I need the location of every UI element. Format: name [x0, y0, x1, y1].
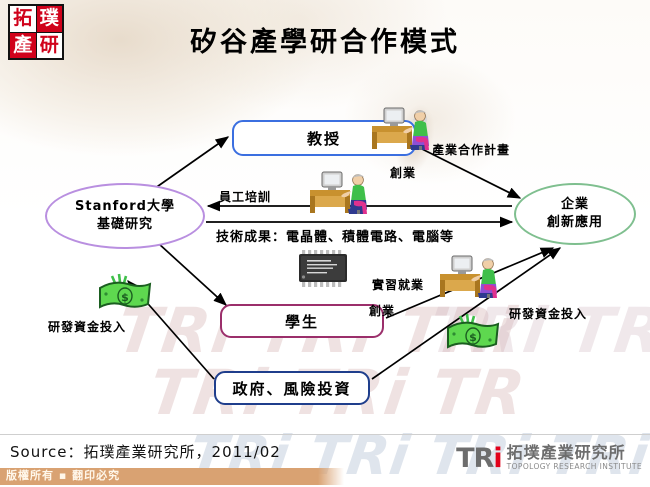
edge-label-startup-upper: 創業 — [390, 164, 416, 181]
person-at-computer-icon — [366, 96, 438, 152]
edge-label-startup-lower: 創業 — [369, 302, 395, 319]
dollar-bill-icon: $ — [92, 272, 154, 316]
edge-label-rd-funding-left: 研發資金投入 — [48, 318, 126, 335]
edge-stanford-to-student — [158, 243, 226, 305]
svg-text:$: $ — [469, 331, 477, 344]
source-line: Source：拓璞產業研究所，2011/02 — [10, 441, 281, 462]
tri-wordmark: TRi — [456, 447, 501, 471]
node-government[interactable]: 政府、風險投資 — [214, 371, 370, 405]
svg-text:$: $ — [121, 291, 129, 304]
edge-label-tech-results: 技術成果：電晶體、積體電路、電腦等 — [216, 226, 454, 245]
edge-label-rd-funding-right: 研發資金投入 — [509, 305, 587, 322]
dollar-bill-icon: $ — [440, 312, 502, 356]
person-at-computer-icon — [434, 244, 506, 300]
edge-label-internship: 實習就業 — [372, 276, 424, 293]
node-enterprise-line-1: 企業 — [561, 196, 589, 214]
tri-logo-english: TOPOLOGY RESEARCH INSTITUTE — [507, 462, 642, 471]
node-stanford[interactable]: Stanford大學 基礎研究 — [45, 183, 205, 249]
person-at-computer-icon — [304, 160, 376, 216]
node-enterprise-line-2: 創新應用 — [547, 214, 603, 232]
node-enterprise[interactable]: 企業 創新應用 — [514, 183, 636, 245]
horizontal-rule — [0, 434, 650, 435]
integrated-circuit-icon — [290, 248, 356, 292]
tri-logo-chinese: 拓墣產業研究所 — [507, 444, 642, 462]
tri-institute-logo: TRi 拓墣產業研究所 TOPOLOGY RESEARCH INSTITUTE — [456, 444, 642, 471]
copyright-text: 版權所有 ▪ 翻印必究 — [6, 467, 120, 483]
node-stanford-line-2: 基礎研究 — [97, 216, 153, 234]
node-stanford-line-1: Stanford大學 — [75, 198, 175, 216]
edge-stanford-to-professor — [151, 137, 228, 191]
edge-label-staff-training: 員工培訓 — [219, 188, 271, 205]
edge-label-industry-cooperation: 產業合作計畫 — [432, 141, 510, 158]
node-student[interactable]: 學生 — [220, 304, 384, 338]
